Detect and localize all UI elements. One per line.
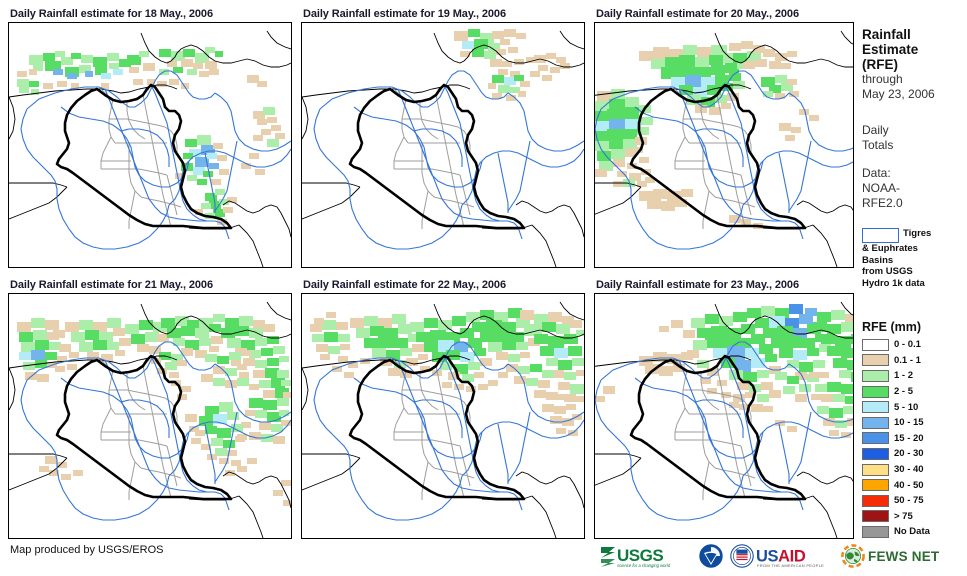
rain-cell <box>729 402 739 408</box>
rain-cell <box>801 338 815 348</box>
rfe-class-label: 40 - 50 <box>894 480 924 491</box>
map-panel-2[interactable]: Daily Rainfall estimate for 19 May., 200… <box>301 6 585 268</box>
rfe-color-swatch <box>862 401 889 413</box>
country-border <box>247 59 291 67</box>
rain-cell <box>416 332 430 342</box>
rain-cell <box>564 334 578 344</box>
usgs-logo[interactable]: USGS science for a changing world <box>600 541 692 571</box>
rain-cell <box>181 83 189 89</box>
rain-cell <box>263 390 275 398</box>
rain-cell <box>261 129 271 135</box>
rain-cell <box>205 354 217 362</box>
rfe-class-label: 2 - 5 <box>894 386 913 397</box>
country-border <box>595 454 641 458</box>
rfe-color-swatch <box>862 417 889 429</box>
rain-cell <box>516 342 528 350</box>
map-canvas[interactable] <box>594 22 854 268</box>
rain-cell <box>751 334 765 344</box>
rain-cell <box>85 71 93 77</box>
rain-cell <box>239 372 249 378</box>
rain-cell <box>787 426 797 432</box>
rain-cell <box>488 380 498 386</box>
rfe-color-swatch <box>862 464 889 476</box>
province-border <box>703 143 715 197</box>
rain-cell <box>215 189 225 195</box>
rain-cell <box>314 318 324 324</box>
usaid-logo[interactable]: USAID FROM THE AMERICAN PEOPLE <box>730 541 834 571</box>
panel-title: Daily Rainfall estimate for 20 May., 200… <box>594 6 854 22</box>
rain-cell <box>356 328 370 338</box>
sidebar-title-line2: Estimate <box>862 42 967 57</box>
rain-cell <box>691 318 705 328</box>
rain-cell <box>576 370 584 376</box>
rain-cell <box>827 382 841 392</box>
province-border <box>422 191 428 229</box>
rain-cell <box>530 364 542 372</box>
rain-cell <box>310 324 322 332</box>
rain-cell <box>279 356 289 362</box>
country-border <box>821 59 853 67</box>
map-canvas[interactable] <box>594 293 854 539</box>
province-border <box>422 414 434 468</box>
rain-cell <box>113 69 123 75</box>
rain-cell <box>851 372 853 382</box>
rain-cell <box>791 127 801 133</box>
svg-text:FROM THE AMERICAN PEOPLE: FROM THE AMERICAN PEOPLE <box>757 563 824 568</box>
rain-cell <box>209 324 221 332</box>
totals-line1: Daily <box>862 123 967 138</box>
rain-raster <box>595 304 853 438</box>
rain-cell <box>566 404 576 410</box>
rfe-legend-row: 0 - 0.1 <box>862 337 967 353</box>
rain-cell <box>647 199 661 209</box>
country-border <box>9 454 67 458</box>
rain-cell <box>747 308 761 318</box>
rfe-legend-row: 0.1 - 1 <box>862 353 967 369</box>
province-border <box>129 462 135 500</box>
rain-cell <box>516 33 526 39</box>
rain-cell <box>847 360 853 370</box>
rain-cell <box>211 179 221 185</box>
rain-cell <box>137 344 149 352</box>
rain-cell <box>671 320 683 328</box>
rain-cell <box>338 356 348 362</box>
rain-cell <box>785 336 801 348</box>
rfe-legend-row: 40 - 50 <box>862 477 967 493</box>
country-border <box>595 187 641 219</box>
map-panel-3[interactable]: Daily Rainfall estimate for 20 May., 200… <box>594 6 854 268</box>
rain-cell <box>775 75 787 83</box>
rain-cell <box>819 372 829 378</box>
rain-cell <box>556 428 566 434</box>
rain-cell <box>418 354 428 360</box>
rain-cell <box>259 380 271 388</box>
rain-cell <box>843 406 853 414</box>
noaa-logo[interactable] <box>699 541 723 571</box>
province-border <box>703 414 715 468</box>
rain-cell <box>249 398 263 408</box>
rain-cell <box>57 81 67 87</box>
rain-cell <box>326 312 336 318</box>
rfe-class-label: 30 - 40 <box>894 464 924 475</box>
rain-cell <box>225 470 235 476</box>
rain-cell <box>603 386 615 394</box>
rfe-legend-rows: 0 - 0.10.1 - 11 - 22 - 55 - 1010 - 1515 … <box>862 337 967 540</box>
map-panel-4[interactable]: Daily Rainfall estimate for 21 May., 200… <box>8 277 292 539</box>
country-border <box>532 225 556 267</box>
map-panel-6[interactable]: Daily Rainfall estimate for 23 May., 200… <box>594 277 854 539</box>
rain-cell <box>508 47 518 53</box>
rain-cell <box>239 316 253 326</box>
rain-cell <box>133 79 143 85</box>
rain-cell <box>484 51 496 59</box>
rain-cell <box>683 330 695 338</box>
rain-cell <box>542 75 552 81</box>
rain-cell <box>697 360 709 368</box>
usgs-logo-icon: USGS science for a changing world <box>600 543 692 569</box>
rain-cell <box>538 65 548 71</box>
rain-cell <box>490 59 502 67</box>
rain-cell <box>139 51 149 57</box>
rain-cell <box>520 310 534 320</box>
rain-cell <box>273 436 285 444</box>
rain-cell <box>255 360 267 368</box>
data-line3: RFE2.0 <box>862 196 967 211</box>
rain-cell <box>277 370 289 378</box>
rain-cell <box>827 346 841 356</box>
rain-cell <box>410 322 424 332</box>
rfe-legend-row: 5 - 10 <box>862 399 967 415</box>
rain-cell <box>442 382 452 388</box>
rain-cell <box>548 312 562 322</box>
rain-cell <box>550 67 560 73</box>
rain-cell <box>191 438 201 444</box>
rain-cell <box>833 358 847 368</box>
rain-cell <box>639 51 653 61</box>
rain-cell <box>554 348 568 358</box>
rain-cell <box>67 364 77 370</box>
rain-cell <box>221 328 235 338</box>
rain-cell <box>554 406 566 414</box>
rain-cell <box>542 370 554 378</box>
rain-cell <box>498 85 510 93</box>
rain-cell <box>595 121 609 131</box>
rain-cell <box>546 392 558 400</box>
country-border <box>239 225 263 267</box>
rain-cell <box>488 83 496 89</box>
basin-caption: Tigres <box>903 228 931 239</box>
rain-cell <box>534 334 548 344</box>
country-border <box>141 33 247 63</box>
rain-cell <box>320 354 330 360</box>
basin-outline <box>498 153 508 213</box>
rain-cell <box>717 380 727 386</box>
rain-cell <box>392 314 406 324</box>
rain-cell <box>71 332 85 342</box>
rain-cell <box>821 334 835 344</box>
rain-cell <box>462 41 474 49</box>
province-border <box>129 414 141 468</box>
rain-cell <box>35 340 49 350</box>
country-border <box>813 225 837 267</box>
rain-cell <box>558 394 568 400</box>
rain-cell <box>765 354 777 362</box>
rain-cell <box>454 31 468 41</box>
rain-cell <box>729 43 741 51</box>
rain-cell <box>785 135 795 141</box>
rain-cell <box>173 67 183 73</box>
rfe-class-label: > 75 <box>894 511 913 522</box>
rain-cell <box>504 29 516 37</box>
rfe-class-label: 0 - 0.1 <box>894 339 921 350</box>
rain-cell <box>71 53 81 59</box>
rain-cell <box>161 318 175 328</box>
rain-cell <box>570 384 584 394</box>
rain-cell <box>741 41 753 49</box>
province-border <box>675 137 685 169</box>
rain-cell <box>336 322 348 330</box>
map-panel-5[interactable]: Daily Rainfall estimate for 22 May., 200… <box>301 277 585 539</box>
rain-cell <box>721 103 731 109</box>
rain-cell <box>185 139 197 147</box>
rain-cell <box>542 322 556 332</box>
country-border <box>516 472 584 508</box>
province-border <box>101 408 111 440</box>
rain-cell <box>809 115 819 121</box>
iraq-national-border <box>350 85 524 228</box>
rain-cell <box>195 328 209 338</box>
rain-cell <box>763 328 777 338</box>
rain-cell <box>665 57 679 67</box>
rain-cell <box>249 153 259 159</box>
fews-net-globe-icon <box>841 544 865 568</box>
rfe-legend-row: 15 - 20 <box>862 431 967 447</box>
province-border <box>394 169 460 175</box>
rain-cell <box>259 422 271 430</box>
rain-cell <box>79 320 93 330</box>
rain-cell <box>109 63 119 69</box>
rain-cell <box>65 322 79 332</box>
country-border <box>797 472 853 508</box>
rain-cell <box>811 394 821 400</box>
rain-cell <box>237 466 247 472</box>
rain-cell <box>73 470 83 476</box>
rain-cell <box>757 394 769 402</box>
rain-cell <box>245 410 255 416</box>
rain-cell <box>229 352 241 360</box>
rain-cell <box>241 350 251 356</box>
map-canvas[interactable] <box>8 22 292 268</box>
rain-cell <box>775 53 787 61</box>
rain-cell <box>17 79 29 87</box>
rfe-class-label: 0.1 - 1 <box>894 355 921 366</box>
rfe-legend-row: 30 - 40 <box>862 462 967 478</box>
rain-cell <box>745 348 759 358</box>
province-border <box>717 366 727 416</box>
rain-cell <box>43 53 55 61</box>
rain-cell <box>492 31 504 39</box>
province-border <box>129 191 135 229</box>
rain-cell <box>324 332 338 342</box>
rain-cell <box>67 73 77 79</box>
rain-cell <box>197 135 211 145</box>
rain-cell <box>61 474 71 480</box>
fews-net-logo[interactable]: FEWS NET <box>841 541 939 571</box>
sidebar-header: Rainfall Estimate (RFE) through May 23, … <box>862 27 967 102</box>
rain-cell <box>131 334 145 344</box>
sidebar-through-label: through <box>862 72 967 87</box>
rain-cell <box>570 320 582 328</box>
rain-cell <box>257 119 267 125</box>
rain-cell <box>763 49 775 57</box>
rain-cell <box>815 384 827 392</box>
basin-outline <box>215 93 291 151</box>
rain-cell <box>183 49 195 57</box>
rain-cell <box>273 346 285 354</box>
rain-cell <box>639 157 649 163</box>
rain-cell <box>831 310 845 320</box>
basin-outline-swatch <box>862 228 899 243</box>
rain-cell <box>468 29 480 37</box>
rain-cell <box>253 370 265 378</box>
map-canvas[interactable] <box>301 293 585 539</box>
province-border <box>394 440 460 446</box>
rain-cell <box>520 81 530 87</box>
rainfall-map-6 <box>595 294 853 538</box>
rain-cell <box>625 97 639 107</box>
rfe-color-swatch <box>862 386 889 398</box>
rain-cell <box>741 219 751 225</box>
rain-cell <box>709 55 723 65</box>
rain-cell <box>197 179 207 185</box>
rain-cell <box>779 348 793 358</box>
rain-cell <box>211 438 223 446</box>
map-canvas[interactable] <box>8 293 292 539</box>
rain-cell <box>193 63 203 69</box>
totals-line2: Totals <box>862 138 967 153</box>
rain-cell <box>681 352 693 360</box>
rfe-legend: RFE (mm) 0 - 0.10.1 - 11 - 22 - 55 - 101… <box>862 320 967 540</box>
rain-cell <box>213 378 225 386</box>
panel-title: Daily Rainfall estimate for 19 May., 200… <box>301 6 585 22</box>
rain-cell <box>199 71 209 77</box>
rain-cell <box>697 328 711 338</box>
rain-cell <box>502 340 516 350</box>
rain-cell <box>139 320 153 330</box>
rfe-color-swatch <box>862 479 889 491</box>
rain-cell <box>779 123 791 131</box>
province-border <box>675 408 685 440</box>
rain-cell <box>761 382 773 390</box>
rain-cell <box>145 332 159 342</box>
country-border <box>267 302 291 320</box>
rain-cell <box>805 308 817 316</box>
rain-cell <box>19 87 29 93</box>
rain-cell <box>468 362 480 370</box>
rain-cell <box>500 39 510 45</box>
rainfall-map-5 <box>302 294 584 538</box>
rain-cell <box>29 55 43 65</box>
rain-cell <box>613 159 625 167</box>
map-canvas[interactable] <box>301 22 585 268</box>
rain-cell <box>17 322 31 332</box>
rain-cell <box>159 49 171 57</box>
map-panel-1[interactable]: Daily Rainfall estimate for 18 May., 200… <box>8 6 292 268</box>
rain-cell <box>530 71 540 77</box>
rain-cell <box>695 57 709 67</box>
province-border <box>101 440 167 446</box>
rain-cell <box>540 346 554 356</box>
rain-cell <box>492 75 504 83</box>
noaa-logo-icon <box>699 544 723 568</box>
country-border <box>9 368 15 410</box>
rain-cell <box>661 201 675 211</box>
rainfall-map-4 <box>9 294 291 538</box>
rain-cell <box>659 326 669 332</box>
rain-cell <box>733 312 747 322</box>
country-border <box>302 97 308 139</box>
rain-cell <box>209 69 219 75</box>
rain-cell <box>452 316 466 326</box>
rainfall-map-1 <box>9 23 291 267</box>
country-border <box>223 201 291 237</box>
rain-cell <box>683 45 697 55</box>
rfe-class-label: 15 - 20 <box>894 433 924 444</box>
rain-cell <box>185 414 197 422</box>
country-border <box>532 496 556 538</box>
rain-cell <box>609 139 623 149</box>
rain-cell <box>181 326 195 336</box>
rain-cell <box>400 348 412 356</box>
rain-cell <box>743 61 755 69</box>
rain-cell <box>558 382 570 390</box>
rain-cell <box>81 55 93 63</box>
rfe-color-swatch <box>862 495 889 507</box>
map-credit: Map produced by USGS/EROS <box>10 544 163 556</box>
rfe-class-label: 5 - 10 <box>894 402 918 413</box>
rain-cell <box>93 57 107 67</box>
rain-cell <box>263 400 277 410</box>
rain-cell <box>55 51 65 57</box>
rain-cell <box>364 338 378 348</box>
rain-cell <box>751 404 763 412</box>
rain-cell <box>705 338 719 348</box>
rain-cell <box>480 310 494 320</box>
country-border <box>813 496 837 538</box>
rain-cell <box>701 378 711 384</box>
country-border <box>302 454 360 458</box>
province-border <box>422 462 428 500</box>
rain-cell <box>681 189 693 197</box>
rain-cell <box>263 107 275 115</box>
rain-raster <box>454 29 570 101</box>
basin-outline <box>779 424 789 484</box>
rain-cell <box>45 352 57 360</box>
rain-cell <box>763 406 773 412</box>
rfe-class-label: 10 - 15 <box>894 417 924 428</box>
basin-line2: & Euphrates <box>862 243 967 255</box>
rain-cell <box>564 372 576 380</box>
rfe-class-label: No Data <box>894 526 930 537</box>
rain-cell <box>169 79 179 85</box>
rain-cell <box>31 350 45 360</box>
country-border <box>595 458 641 490</box>
rain-cell <box>623 129 637 139</box>
rfe-legend-row: 2 - 5 <box>862 384 967 400</box>
province-border <box>394 408 404 440</box>
rfe-legend-heading: RFE (mm) <box>862 320 967 334</box>
rain-cell <box>93 340 107 350</box>
